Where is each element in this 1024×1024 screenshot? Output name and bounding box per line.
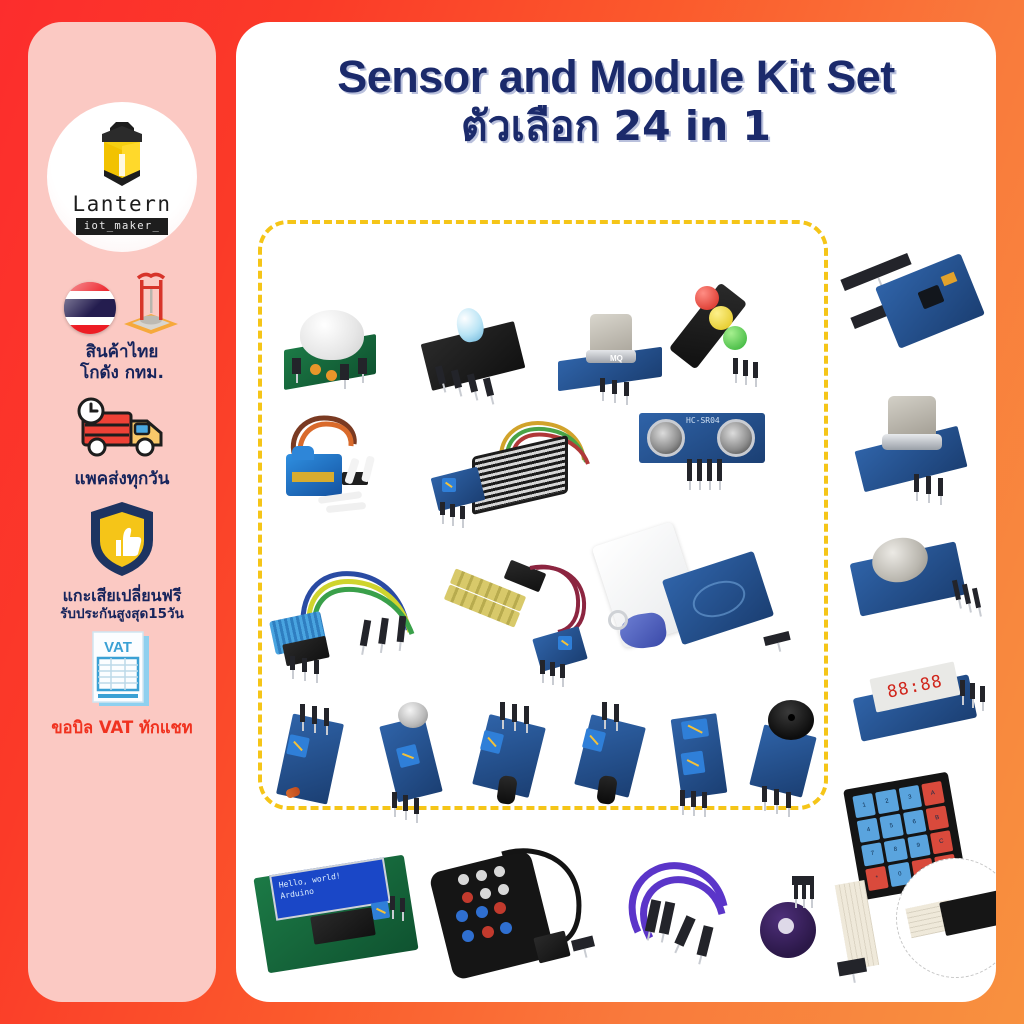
badge-text-thai-2: โกดัง กทม. (80, 363, 164, 384)
title-line-1: Sensor and Module Kit Set (236, 54, 996, 100)
product-tm1637-display: 88:88 TM1637 4-Digit 7-Segment Display (852, 662, 990, 744)
keypad-key[interactable]: 6 (902, 809, 926, 834)
product-rtc-ds3231-module: DS3231 RTC Clock Module (850, 530, 986, 626)
product-showcase-panel: Sensor and Module Kit Set ตัวเลือก 24 in… (236, 22, 996, 1002)
giant-swing-icon (122, 270, 180, 334)
badge-text-vat: ขอบิล VAT ทักแชท (51, 718, 192, 738)
display-value: 88:88 (885, 671, 944, 702)
page-title: Sensor and Module Kit Set ตัวเลือก 24 in… (236, 22, 996, 149)
product-mpu6050-module: MPU6050 Gyro Accelerometer (836, 250, 986, 366)
mq2-label: MQ (610, 354, 623, 363)
badge-text-shipping: แพคส่งทุกวัน (75, 469, 170, 490)
vat-label: VAT (104, 639, 132, 656)
keypad-key[interactable]: 3 (898, 785, 922, 810)
badge-text-thai-1: สินค้าไทย (86, 342, 159, 363)
product-light-sensor: Photoresistor Light Sensor (274, 704, 360, 808)
promo-sidebar: Lantern iot_maker_ สินค้าไทย โกดัง กทม. (28, 22, 216, 1002)
product-flame-sensor: Flame Sensor (468, 702, 560, 808)
lantern-icon (90, 120, 154, 192)
keypad-key[interactable]: 9 (907, 834, 931, 859)
product-round-module: Round Sensor Module (744, 870, 844, 966)
product-rgb-led-module: RGB LED Module (421, 304, 531, 396)
badge-text-warranty-2: รับประกันสูงสุด15วัน (60, 606, 184, 622)
thai-flag-icon (64, 282, 116, 334)
keypad-key[interactable]: 1 (852, 793, 876, 818)
keypad-key[interactable]: 4 (857, 817, 881, 842)
title-line-2: ตัวเลือก 24 in 1 (236, 104, 996, 149)
product-rain-sensor: Rain / Water Drop Sensor (434, 420, 594, 520)
product-soil-moisture-sensor: Soil Moisture Sensor (444, 554, 594, 684)
product-female-header: Female Pin Header Strip (896, 858, 996, 978)
product-pir-sensor: HC-SR501 PIR Motion Sensor (278, 300, 388, 390)
product-sound-sensor: Microphone Sound Sensor (372, 698, 458, 808)
keypad-key[interactable]: 5 (880, 813, 904, 838)
shield-thumbsup-icon (87, 500, 157, 578)
product-ir-remote-kit: IR Remote Control with Receiver (432, 842, 632, 982)
delivery-truck-icon (67, 395, 177, 461)
product-buzzer-module: Active Buzzer Module (746, 698, 830, 802)
badge-text-warranty-1: แกะเสียเปลี่ยนฟรี (63, 586, 182, 606)
product-dht11-sensor: DHT11 Temperature Humidity Sensor (270, 562, 430, 672)
product-traffic-light-module: Traffic Light LED Module (673, 270, 783, 382)
product-lcd1602-i2c: Hello, world! Arduino LCD1602 Display wi… (254, 848, 424, 978)
ultrasonic-label: HC-SR04 (686, 416, 720, 425)
product-mq2-gas-sensor: MQ MQ-2 Gas Sensor (556, 310, 666, 396)
brand-logo: Lantern iot_maker_ (47, 102, 197, 252)
product-mq135-gas-sensor: MQ-135 Air Quality Sensor (852, 390, 982, 500)
vat-invoice-icon: VAT (89, 630, 155, 710)
product-tracking-sensor: Line Tracking Sensor (660, 694, 746, 804)
product-rfid-rc522: RFID RC522 Kit with Card and Keyfob (596, 522, 796, 682)
keypad-key[interactable]: 7 (861, 842, 885, 867)
keypad-key[interactable]: B (925, 805, 949, 830)
keypad-key[interactable]: C (930, 830, 954, 855)
brand-handle: iot_maker_ (76, 218, 168, 235)
brand-name: Lantern (72, 194, 171, 215)
keypad-key[interactable]: A (921, 781, 945, 806)
badge-icons-thai (64, 268, 180, 334)
product-ultrasonic-sensor: HC-SR04 HC-SR04 Ultrasonic Sensor (639, 407, 767, 491)
keypad-key[interactable]: 2 (875, 789, 899, 814)
keypad-key[interactable]: * (865, 866, 889, 891)
product-sg90-servo: SG90 Micro Servo (274, 410, 414, 520)
product-ir-obstacle-sensor: IR Obstacle Avoidance Sensor (568, 702, 660, 808)
